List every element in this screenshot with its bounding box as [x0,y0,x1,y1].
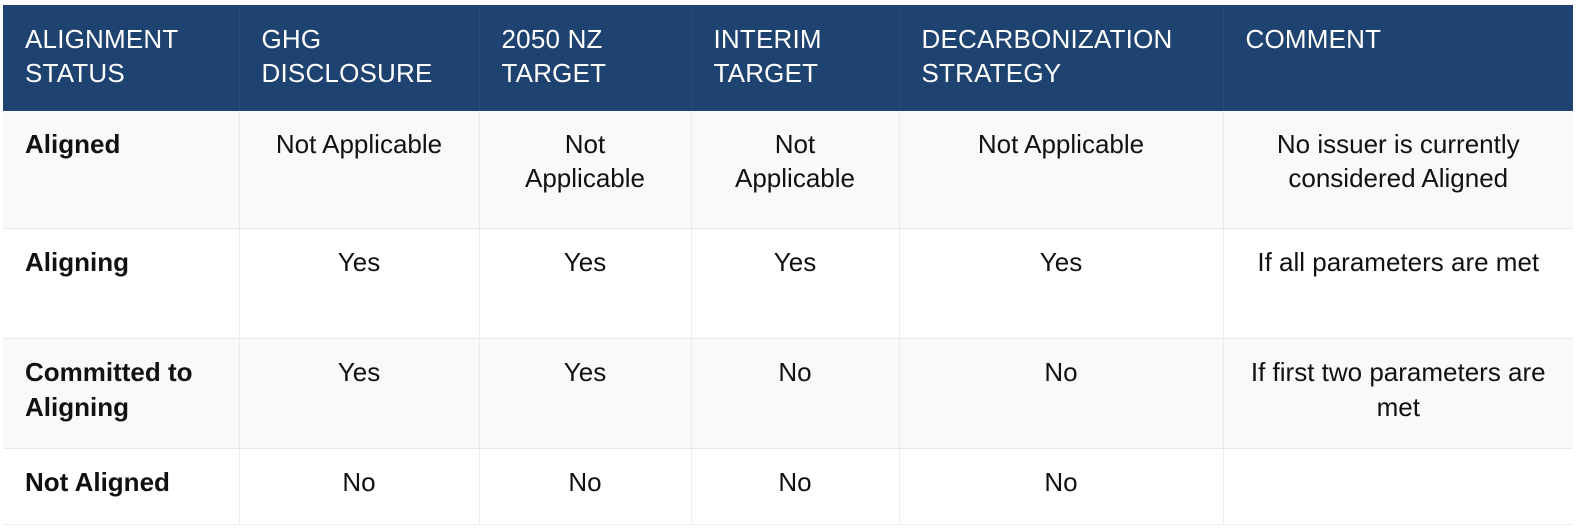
cell-ghg-disclosure: Not Applicable [239,111,479,229]
table-row: Aligning Yes Yes Yes Yes If all paramete… [3,229,1573,339]
cell-status: Aligned [3,111,239,229]
cell-2050-nz-target: Yes [479,339,691,449]
cell-decarbonization-strategy: Not Applicable [899,111,1223,229]
cell-comment [1223,449,1573,525]
column-header-comment: COMMENT [1223,5,1573,111]
cell-decarbonization-strategy: Yes [899,229,1223,339]
cell-interim-target: No [691,339,899,449]
cell-interim-target: Not Applicable [691,111,899,229]
cell-ghg-disclosure: No [239,449,479,525]
cell-status: Committed to Aligning [3,339,239,449]
cell-comment: If all parameters are met [1223,229,1573,339]
alignment-status-table: ALIGNMENT STATUS GHG DISCLOSURE 2050 NZ … [3,5,1573,525]
cell-decarbonization-strategy: No [899,339,1223,449]
cell-comment: No issuer is currently considered Aligne… [1223,111,1573,229]
cell-status: Not Aligned [3,449,239,525]
column-header-ghg-disclosure: GHG DISCLOSURE [239,5,479,111]
cell-2050-nz-target: No [479,449,691,525]
column-header-2050-nz-target: 2050 NZ TARGET [479,5,691,111]
table-row: Aligned Not Applicable Not Applicable No… [3,111,1573,229]
cell-status: Aligning [3,229,239,339]
cell-2050-nz-target: Not Applicable [479,111,691,229]
column-header-interim-target: INTERIM TARGET [691,5,899,111]
column-header-decarbonization-strategy: DECARBONIZATION STRATEGY [899,5,1223,111]
cell-ghg-disclosure: Yes [239,229,479,339]
cell-decarbonization-strategy: No [899,449,1223,525]
table-body: Aligned Not Applicable Not Applicable No… [3,111,1573,525]
cell-interim-target: No [691,449,899,525]
table-header: ALIGNMENT STATUS GHG DISCLOSURE 2050 NZ … [3,5,1573,111]
table-row: Not Aligned No No No No [3,449,1573,525]
cell-comment: If first two parameters are met [1223,339,1573,449]
cell-interim-target: Yes [691,229,899,339]
table-header-row: ALIGNMENT STATUS GHG DISCLOSURE 2050 NZ … [3,5,1573,111]
alignment-status-table-container: ALIGNMENT STATUS GHG DISCLOSURE 2050 NZ … [3,5,1573,525]
cell-ghg-disclosure: Yes [239,339,479,449]
table-row: Committed to Aligning Yes Yes No No If f… [3,339,1573,449]
cell-2050-nz-target: Yes [479,229,691,339]
column-header-alignment-status: ALIGNMENT STATUS [3,5,239,111]
